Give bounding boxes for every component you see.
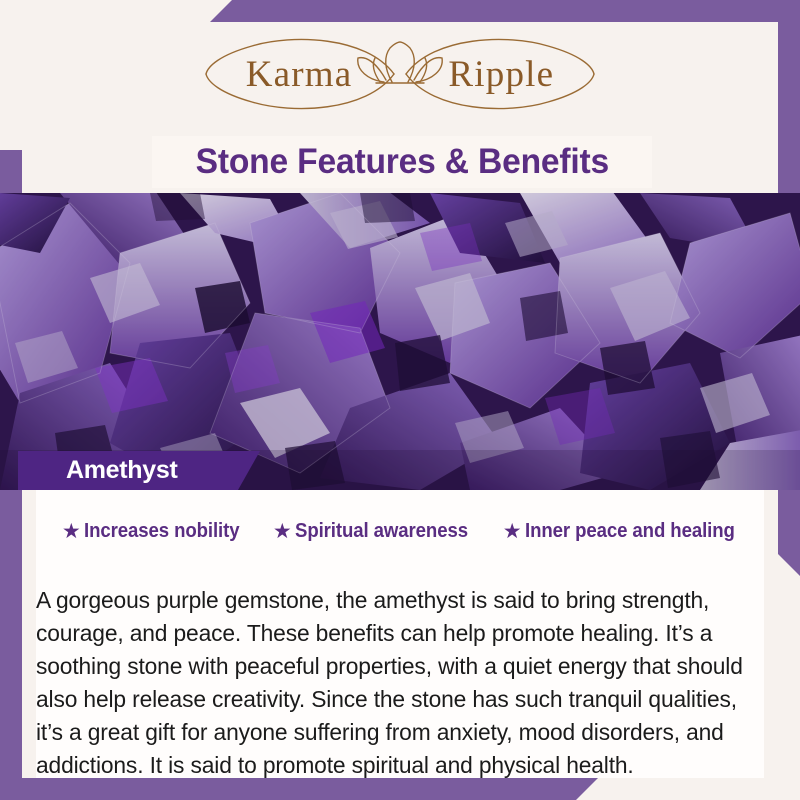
stone-name-banner: Amethyst: [18, 451, 260, 490]
brand-masthead: Karma Ripple: [22, 22, 778, 126]
stone-name-label: Amethyst: [18, 458, 178, 483]
star-icon: ★: [273, 521, 292, 542]
brand-word-ripple: Ripple: [448, 56, 554, 93]
benefit-label-2: Inner peace and healing: [525, 520, 735, 543]
stone-description: A gorgeous purple gemstone, the amethyst…: [36, 584, 758, 782]
benefits-row: ★ Increases nobility ★ Spiritual awarene…: [36, 514, 776, 548]
benefit-label-1: Spiritual awareness: [295, 520, 468, 543]
brand-word-karma: Karma: [246, 56, 353, 93]
benefit-item-2: ★ Inner peace and healing: [503, 520, 750, 543]
benefit-item-1: ★ Spiritual awareness: [273, 520, 481, 543]
benefit-item-0: ★ Increases nobility: [62, 520, 251, 543]
stone-photo: [0, 193, 800, 490]
star-icon: ★: [503, 521, 522, 542]
poster-canvas: Karma Ripple Stone Features & Benefits: [0, 0, 800, 800]
headline-band: Stone Features & Benefits: [152, 136, 652, 188]
page-title: Stone Features & Benefits: [195, 142, 608, 182]
benefit-label-0: Increases nobility: [84, 520, 239, 543]
star-icon: ★: [62, 521, 81, 542]
brand-logo-lockup: Karma Ripple: [180, 32, 620, 116]
